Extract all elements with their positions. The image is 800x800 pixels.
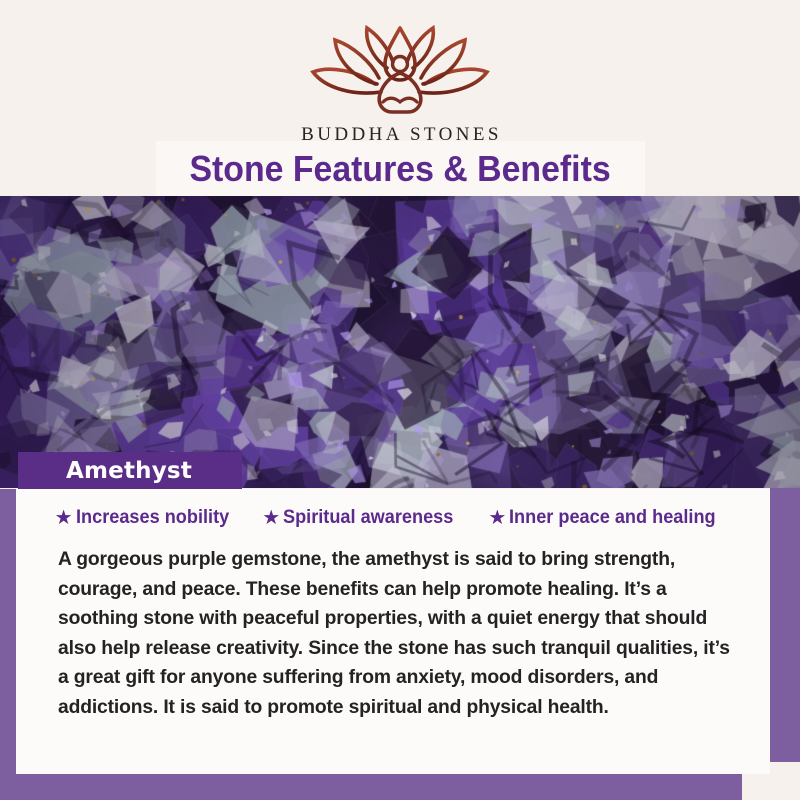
feature-label-0: Increases nobility [76,506,229,529]
frame-strip-left [0,489,16,800]
figure-head-icon [393,57,408,72]
feature-label-2: Inner peace and healing [509,506,716,529]
page-title: Stone Features & Benefits [190,148,611,190]
feature-list: ★Increases nobility★Spiritual awareness★… [38,506,748,529]
page-title-band: Stone Features & Benefits [156,141,645,196]
infographic-page: BUDDHA STONES Stone Features & Benefits … [0,0,800,800]
amethyst-crystal-cluster-photo [0,196,800,488]
hero-image [0,196,800,488]
star-icon: ★ [55,508,73,528]
stone-description: A gorgeous purple gemstone, the amethyst… [38,545,748,722]
feature-item-1: ★Spiritual awareness [262,506,466,529]
figure-hands-icon [383,98,417,102]
brand-logo: BUDDHA STONES [0,22,800,146]
content-panel: ★Increases nobility★Spiritual awareness★… [16,489,770,774]
star-icon: ★ [262,508,280,528]
stone-name: Amethyst [18,458,192,484]
lotus-meditation-figure-icon [295,22,505,122]
frame-strip-bottom [0,774,742,800]
feature-label-1: Spiritual awareness [283,506,453,529]
feature-item-0: ★Increases nobility [55,506,241,529]
stone-name-banner: Amethyst [18,452,242,489]
feature-item-2: ★Inner peace and healing [488,506,731,529]
star-icon: ★ [488,508,506,528]
